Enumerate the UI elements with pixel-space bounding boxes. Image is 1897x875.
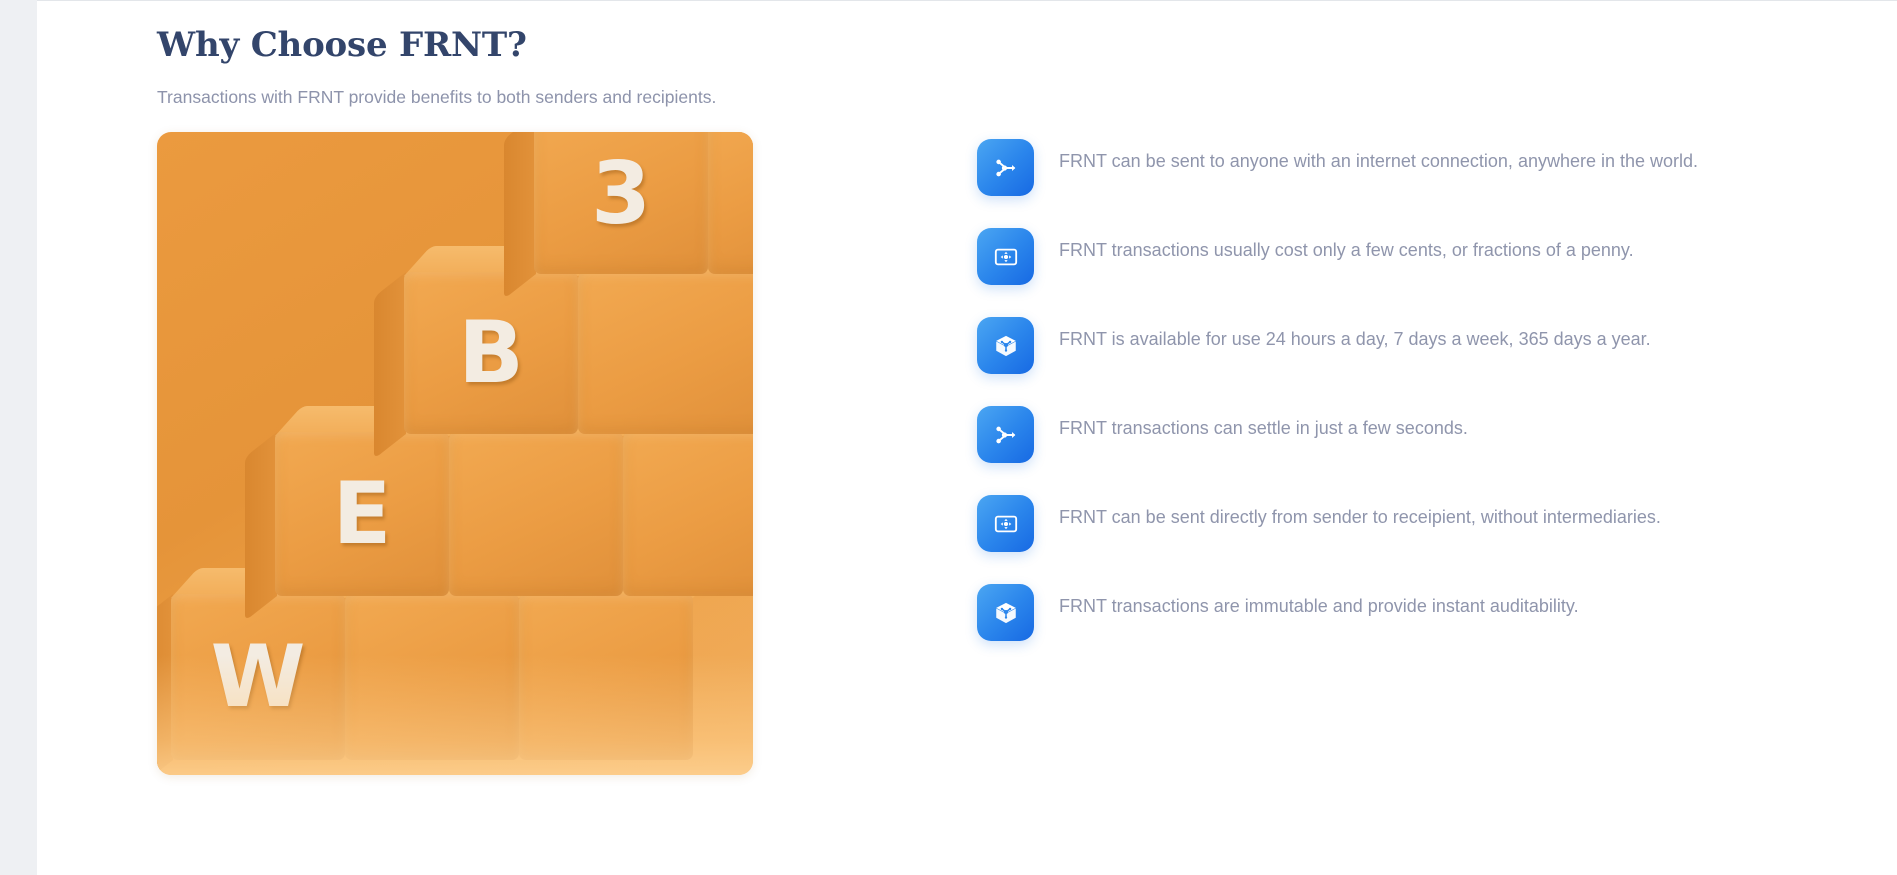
list-item: FRNT is available for use 24 hours a day… <box>977 315 1857 374</box>
list-item: FRNT transactions usually cost only a fe… <box>977 226 1857 285</box>
block-side-face <box>374 272 406 459</box>
list-item: FRNT can be sent to anyone with an inter… <box>977 137 1857 196</box>
block-side-face <box>504 132 536 299</box>
move-expand-icon <box>977 228 1034 285</box>
list-item: FRNT transactions are immutable and prov… <box>977 582 1857 641</box>
list-item-text: FRNT transactions are immutable and prov… <box>1059 582 1579 621</box>
block-plain-5 <box>578 272 753 434</box>
benefits-list: FRNT can be sent to anyone with an inter… <box>797 132 1857 641</box>
block-letter: 3 <box>591 151 651 237</box>
block-3: 3 <box>534 132 708 274</box>
list-item-text: FRNT can be sent to anyone with an inter… <box>1059 137 1698 176</box>
page-left-gutter <box>0 0 37 875</box>
block-letter: E <box>333 471 392 557</box>
section-subtitle: Transactions with FRNT provide benefits … <box>157 84 1857 110</box>
block-front-face <box>623 432 753 596</box>
block-e: E <box>275 432 449 596</box>
page-title: Why Choose FRNT? <box>157 25 1857 66</box>
list-item-text: FRNT is available for use 24 hours a day… <box>1059 315 1651 354</box>
block-side-face <box>245 432 277 621</box>
block-letter: B <box>458 310 524 396</box>
block-front-face: E <box>275 432 449 596</box>
list-item: FRNT transactions can settle in just a f… <box>977 404 1857 463</box>
list-item-text: FRNT transactions can settle in just a f… <box>1059 404 1468 443</box>
list-item-text: FRNT can be sent directly from sender to… <box>1059 493 1661 532</box>
block-plain-6 <box>708 132 753 274</box>
web3-blocks-image: W E <box>157 132 753 775</box>
illustration-column: W E <box>157 132 797 775</box>
block-b: B <box>404 272 578 434</box>
cube-node-icon <box>977 584 1034 641</box>
list-item: FRNT can be sent directly from sender to… <box>977 493 1857 552</box>
section-columns: W E <box>157 132 1857 775</box>
list-item-text: FRNT transactions usually cost only a fe… <box>1059 226 1634 265</box>
share-arrow-icon <box>977 406 1034 463</box>
cube-node-icon <box>977 317 1034 374</box>
floor-glow <box>157 655 753 775</box>
block-plain-4 <box>623 432 753 596</box>
why-choose-section: Why Choose FRNT? Transactions with FRNT … <box>157 25 1857 775</box>
move-expand-icon <box>977 495 1034 552</box>
share-arrow-icon <box>977 139 1034 196</box>
block-front-face <box>578 272 753 434</box>
block-plain-3 <box>449 432 623 596</box>
content-panel: Why Choose FRNT? Transactions with FRNT … <box>37 0 1897 875</box>
block-front-face: B <box>404 272 578 434</box>
block-front-face: 3 <box>534 132 708 274</box>
block-front-face <box>449 432 623 596</box>
block-front-face <box>708 132 753 274</box>
